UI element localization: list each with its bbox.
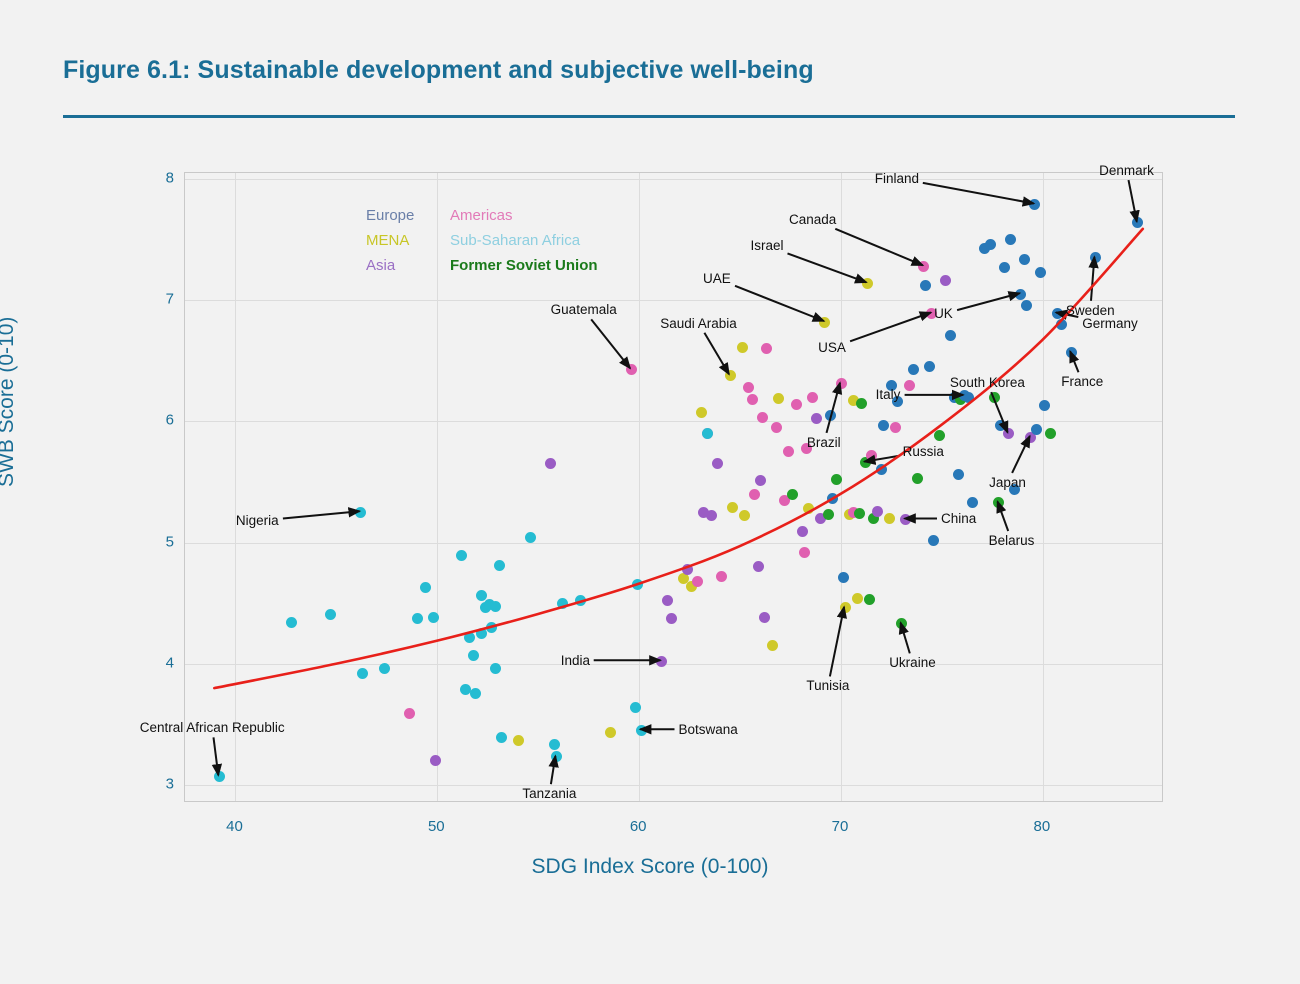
- data-point: [872, 506, 883, 517]
- y-tick-label: 7: [154, 291, 174, 308]
- data-point: [706, 510, 717, 521]
- annotation-label: Belarus: [989, 533, 1035, 548]
- y-tick-label: 5: [154, 533, 174, 550]
- legend-item-americas[interactable]: Americas: [450, 207, 513, 224]
- data-point: [797, 526, 808, 537]
- data-point: [1003, 428, 1014, 439]
- legend-item-mena[interactable]: MENA: [366, 232, 409, 249]
- data-point: [420, 582, 431, 593]
- data-point: [799, 547, 810, 558]
- x-tick-label: 60: [630, 818, 647, 835]
- legend-item-asia[interactable]: Asia: [366, 257, 395, 274]
- data-point: [632, 579, 643, 590]
- x-tick-label: 40: [226, 818, 243, 835]
- data-point: [783, 446, 794, 457]
- data-point: [912, 473, 923, 484]
- data-point: [840, 602, 851, 613]
- data-point: [920, 280, 931, 291]
- data-point: [904, 380, 915, 391]
- legend-item-europe[interactable]: Europe: [366, 207, 414, 224]
- data-point: [807, 392, 818, 403]
- x-tick-label: 80: [1034, 818, 1051, 835]
- annotation-label: Finland: [875, 171, 919, 186]
- data-point: [286, 617, 297, 628]
- data-point: [490, 601, 501, 612]
- data-point: [525, 532, 536, 543]
- annotation-label: Italy: [876, 387, 901, 402]
- data-point: [1132, 217, 1143, 228]
- data-point: [866, 450, 877, 461]
- y-tick-label: 8: [154, 170, 174, 187]
- data-point: [852, 593, 863, 604]
- data-point: [767, 640, 778, 651]
- data-point: [428, 612, 439, 623]
- data-point: [934, 430, 945, 441]
- data-point: [918, 261, 929, 272]
- data-point: [712, 458, 723, 469]
- y-tick-label: 6: [154, 412, 174, 429]
- annotation-label: Nigeria: [236, 513, 279, 528]
- data-point: [773, 393, 784, 404]
- data-point: [1090, 252, 1101, 263]
- chart-figure: Figure 6.1: Sustainable development and …: [0, 0, 1300, 984]
- annotation-label: Ukraine: [889, 655, 936, 670]
- data-point: [759, 612, 770, 623]
- data-point: [456, 550, 467, 561]
- annotation-label: Saudi Arabia: [660, 316, 737, 331]
- data-point: [357, 668, 368, 679]
- data-point: [702, 428, 713, 439]
- data-point: [696, 407, 707, 418]
- annotation-label: Tunisia: [806, 678, 849, 693]
- data-point: [940, 275, 951, 286]
- data-point: [819, 317, 830, 328]
- gridline-vertical: [235, 173, 236, 801]
- data-point: [771, 422, 782, 433]
- data-point: [928, 535, 939, 546]
- annotation-label: India: [561, 653, 590, 668]
- data-point: [825, 410, 836, 421]
- data-point: [1015, 289, 1026, 300]
- data-point: [716, 571, 727, 582]
- data-point: [755, 475, 766, 486]
- data-point: [838, 572, 849, 583]
- data-point: [791, 399, 802, 410]
- data-point: [890, 422, 901, 433]
- data-point: [1029, 199, 1040, 210]
- data-point: [412, 613, 423, 624]
- annotation-label: Canada: [789, 212, 836, 227]
- annotation-label: Denmark: [1099, 163, 1154, 178]
- annotation-label: Brazil: [807, 435, 841, 450]
- data-point: [896, 618, 907, 629]
- data-point: [605, 727, 616, 738]
- data-point: [379, 663, 390, 674]
- data-point: [836, 378, 847, 389]
- data-point: [827, 493, 838, 504]
- data-point: [404, 708, 415, 719]
- data-point: [1021, 300, 1032, 311]
- data-point: [545, 458, 556, 469]
- annotation-label: France: [1061, 374, 1103, 389]
- x-axis-title: SDG Index Score (0-100): [0, 855, 1300, 879]
- data-point: [864, 594, 875, 605]
- data-point: [737, 342, 748, 353]
- data-point: [803, 503, 814, 514]
- data-point: [557, 598, 568, 609]
- data-point: [1066, 347, 1077, 358]
- gridline-horizontal: [185, 179, 1162, 180]
- data-point: [1005, 234, 1016, 245]
- annotation-label: China: [941, 511, 976, 526]
- data-point: [1019, 254, 1030, 265]
- data-point: [739, 510, 750, 521]
- data-point: [626, 364, 637, 375]
- data-point: [876, 464, 887, 475]
- gridline-vertical: [437, 173, 438, 801]
- y-tick-label: 4: [154, 654, 174, 671]
- data-point: [945, 330, 956, 341]
- data-point: [1056, 319, 1067, 330]
- annotation-label: Botswana: [679, 722, 738, 737]
- data-point: [753, 561, 764, 572]
- data-point: [993, 497, 1004, 508]
- data-point: [656, 656, 667, 667]
- data-point: [884, 513, 895, 524]
- gridline-horizontal: [185, 300, 1162, 301]
- gridline-horizontal: [185, 421, 1162, 422]
- y-axis-title: SWB Score (0-10): [0, 317, 19, 487]
- data-point: [549, 739, 560, 750]
- annotation-label: Russia: [903, 444, 944, 459]
- data-point: [490, 663, 501, 674]
- data-point: [787, 489, 798, 500]
- gridline-vertical: [841, 173, 842, 801]
- annotation-label: Germany: [1082, 316, 1138, 331]
- x-tick-label: 50: [428, 818, 445, 835]
- data-point: [953, 469, 964, 480]
- annotation-label: UAE: [703, 271, 731, 286]
- gridline-horizontal: [185, 664, 1162, 665]
- data-point: [989, 392, 1000, 403]
- data-point: [430, 755, 441, 766]
- legend-item-former-soviet-union[interactable]: Former Soviet Union: [450, 257, 598, 274]
- data-point: [924, 361, 935, 372]
- annotation-label: UK: [934, 306, 953, 321]
- data-point: [575, 595, 586, 606]
- legend-item-sub-saharan-africa[interactable]: Sub-Saharan Africa: [450, 232, 580, 249]
- data-point: [513, 735, 524, 746]
- gridline-horizontal: [185, 785, 1162, 786]
- data-point: [1031, 424, 1042, 435]
- data-point: [666, 613, 677, 624]
- data-point: [486, 622, 497, 633]
- data-point: [761, 343, 772, 354]
- data-point: [662, 595, 673, 606]
- annotation-label: Israel: [751, 238, 784, 253]
- data-point: [1045, 428, 1056, 439]
- data-point: [856, 398, 867, 409]
- data-point: [727, 502, 738, 513]
- annotation-label: Central African Republic: [140, 720, 285, 735]
- data-point: [496, 732, 507, 743]
- data-point: [900, 514, 911, 525]
- data-point: [811, 413, 822, 424]
- data-point: [862, 278, 873, 289]
- annotation-label: South Korea: [950, 375, 1025, 390]
- annotation-label: USA: [818, 340, 846, 355]
- data-point: [749, 489, 760, 500]
- data-point: [1035, 267, 1046, 278]
- data-point: [325, 609, 336, 620]
- data-point: [468, 650, 479, 661]
- x-tick-label: 70: [832, 818, 849, 835]
- data-point: [464, 632, 475, 643]
- data-point: [908, 364, 919, 375]
- data-point: [963, 392, 974, 403]
- page-title: Figure 6.1: Sustainable development and …: [63, 56, 814, 85]
- data-point: [692, 576, 703, 587]
- data-point: [985, 239, 996, 250]
- y-tick-label: 3: [154, 775, 174, 792]
- data-point: [551, 751, 562, 762]
- data-point: [470, 688, 481, 699]
- data-point: [355, 507, 366, 518]
- annotation-label: Tanzania: [522, 786, 576, 801]
- data-point: [682, 564, 693, 575]
- data-point: [1039, 400, 1050, 411]
- data-point: [757, 412, 768, 423]
- data-point: [725, 370, 736, 381]
- data-point: [743, 382, 754, 393]
- title-divider: [63, 115, 1235, 118]
- data-point: [630, 702, 641, 713]
- data-point: [999, 262, 1010, 273]
- annotation-label: Guatemala: [551, 302, 617, 317]
- data-point: [1052, 308, 1063, 319]
- data-point: [823, 509, 834, 520]
- data-point: [494, 560, 505, 571]
- data-point: [878, 420, 889, 431]
- data-point: [967, 497, 978, 508]
- data-point: [747, 394, 758, 405]
- data-point: [636, 725, 647, 736]
- data-point: [854, 508, 865, 519]
- data-point: [214, 771, 225, 782]
- annotation-label: Japan: [989, 475, 1026, 490]
